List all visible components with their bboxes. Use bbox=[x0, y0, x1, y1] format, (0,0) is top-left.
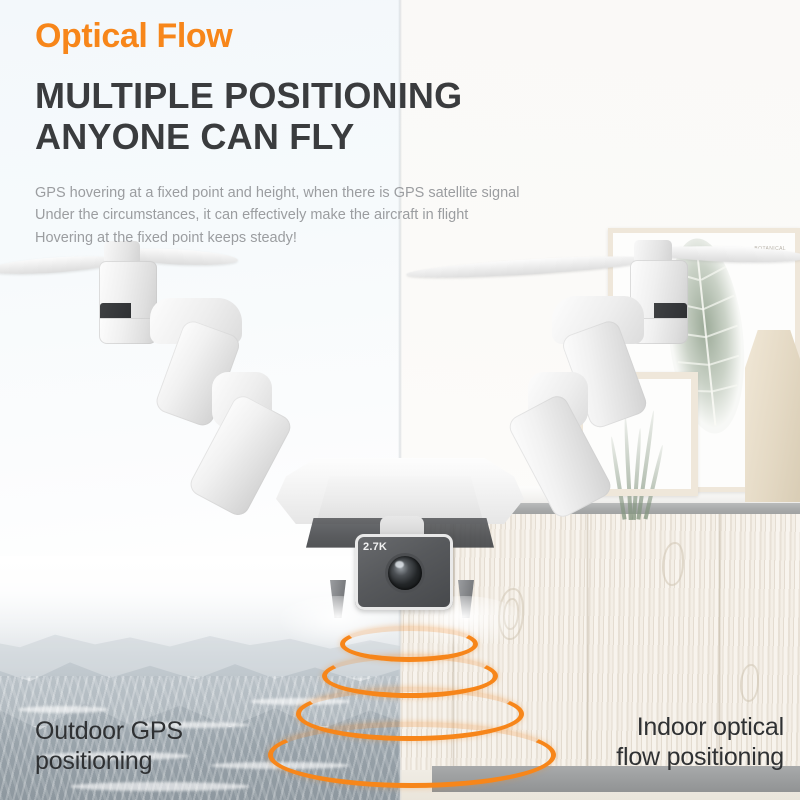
page-title: MULTIPLE POSITIONING ANYONE CAN FLY bbox=[35, 76, 462, 157]
motor-left-lower bbox=[99, 318, 157, 344]
camera-resolution-label: 2.7K bbox=[363, 541, 387, 553]
propeller-right-blade-a bbox=[406, 252, 650, 282]
caption-indoor-optical-flow: Indoor optical flow positioning bbox=[616, 713, 784, 772]
eyebrow-label: Optical Flow bbox=[35, 17, 232, 56]
caption-outdoor-gps: Outdoor GPS positioning bbox=[35, 717, 183, 776]
camera-lens-icon bbox=[388, 556, 422, 590]
signal-ring-4 bbox=[268, 722, 556, 788]
motor-right-cap bbox=[634, 240, 672, 262]
promo-banner: BOTANICAL bbox=[0, 0, 800, 800]
description-text: GPS hovering at a fixed point and height… bbox=[35, 182, 519, 249]
